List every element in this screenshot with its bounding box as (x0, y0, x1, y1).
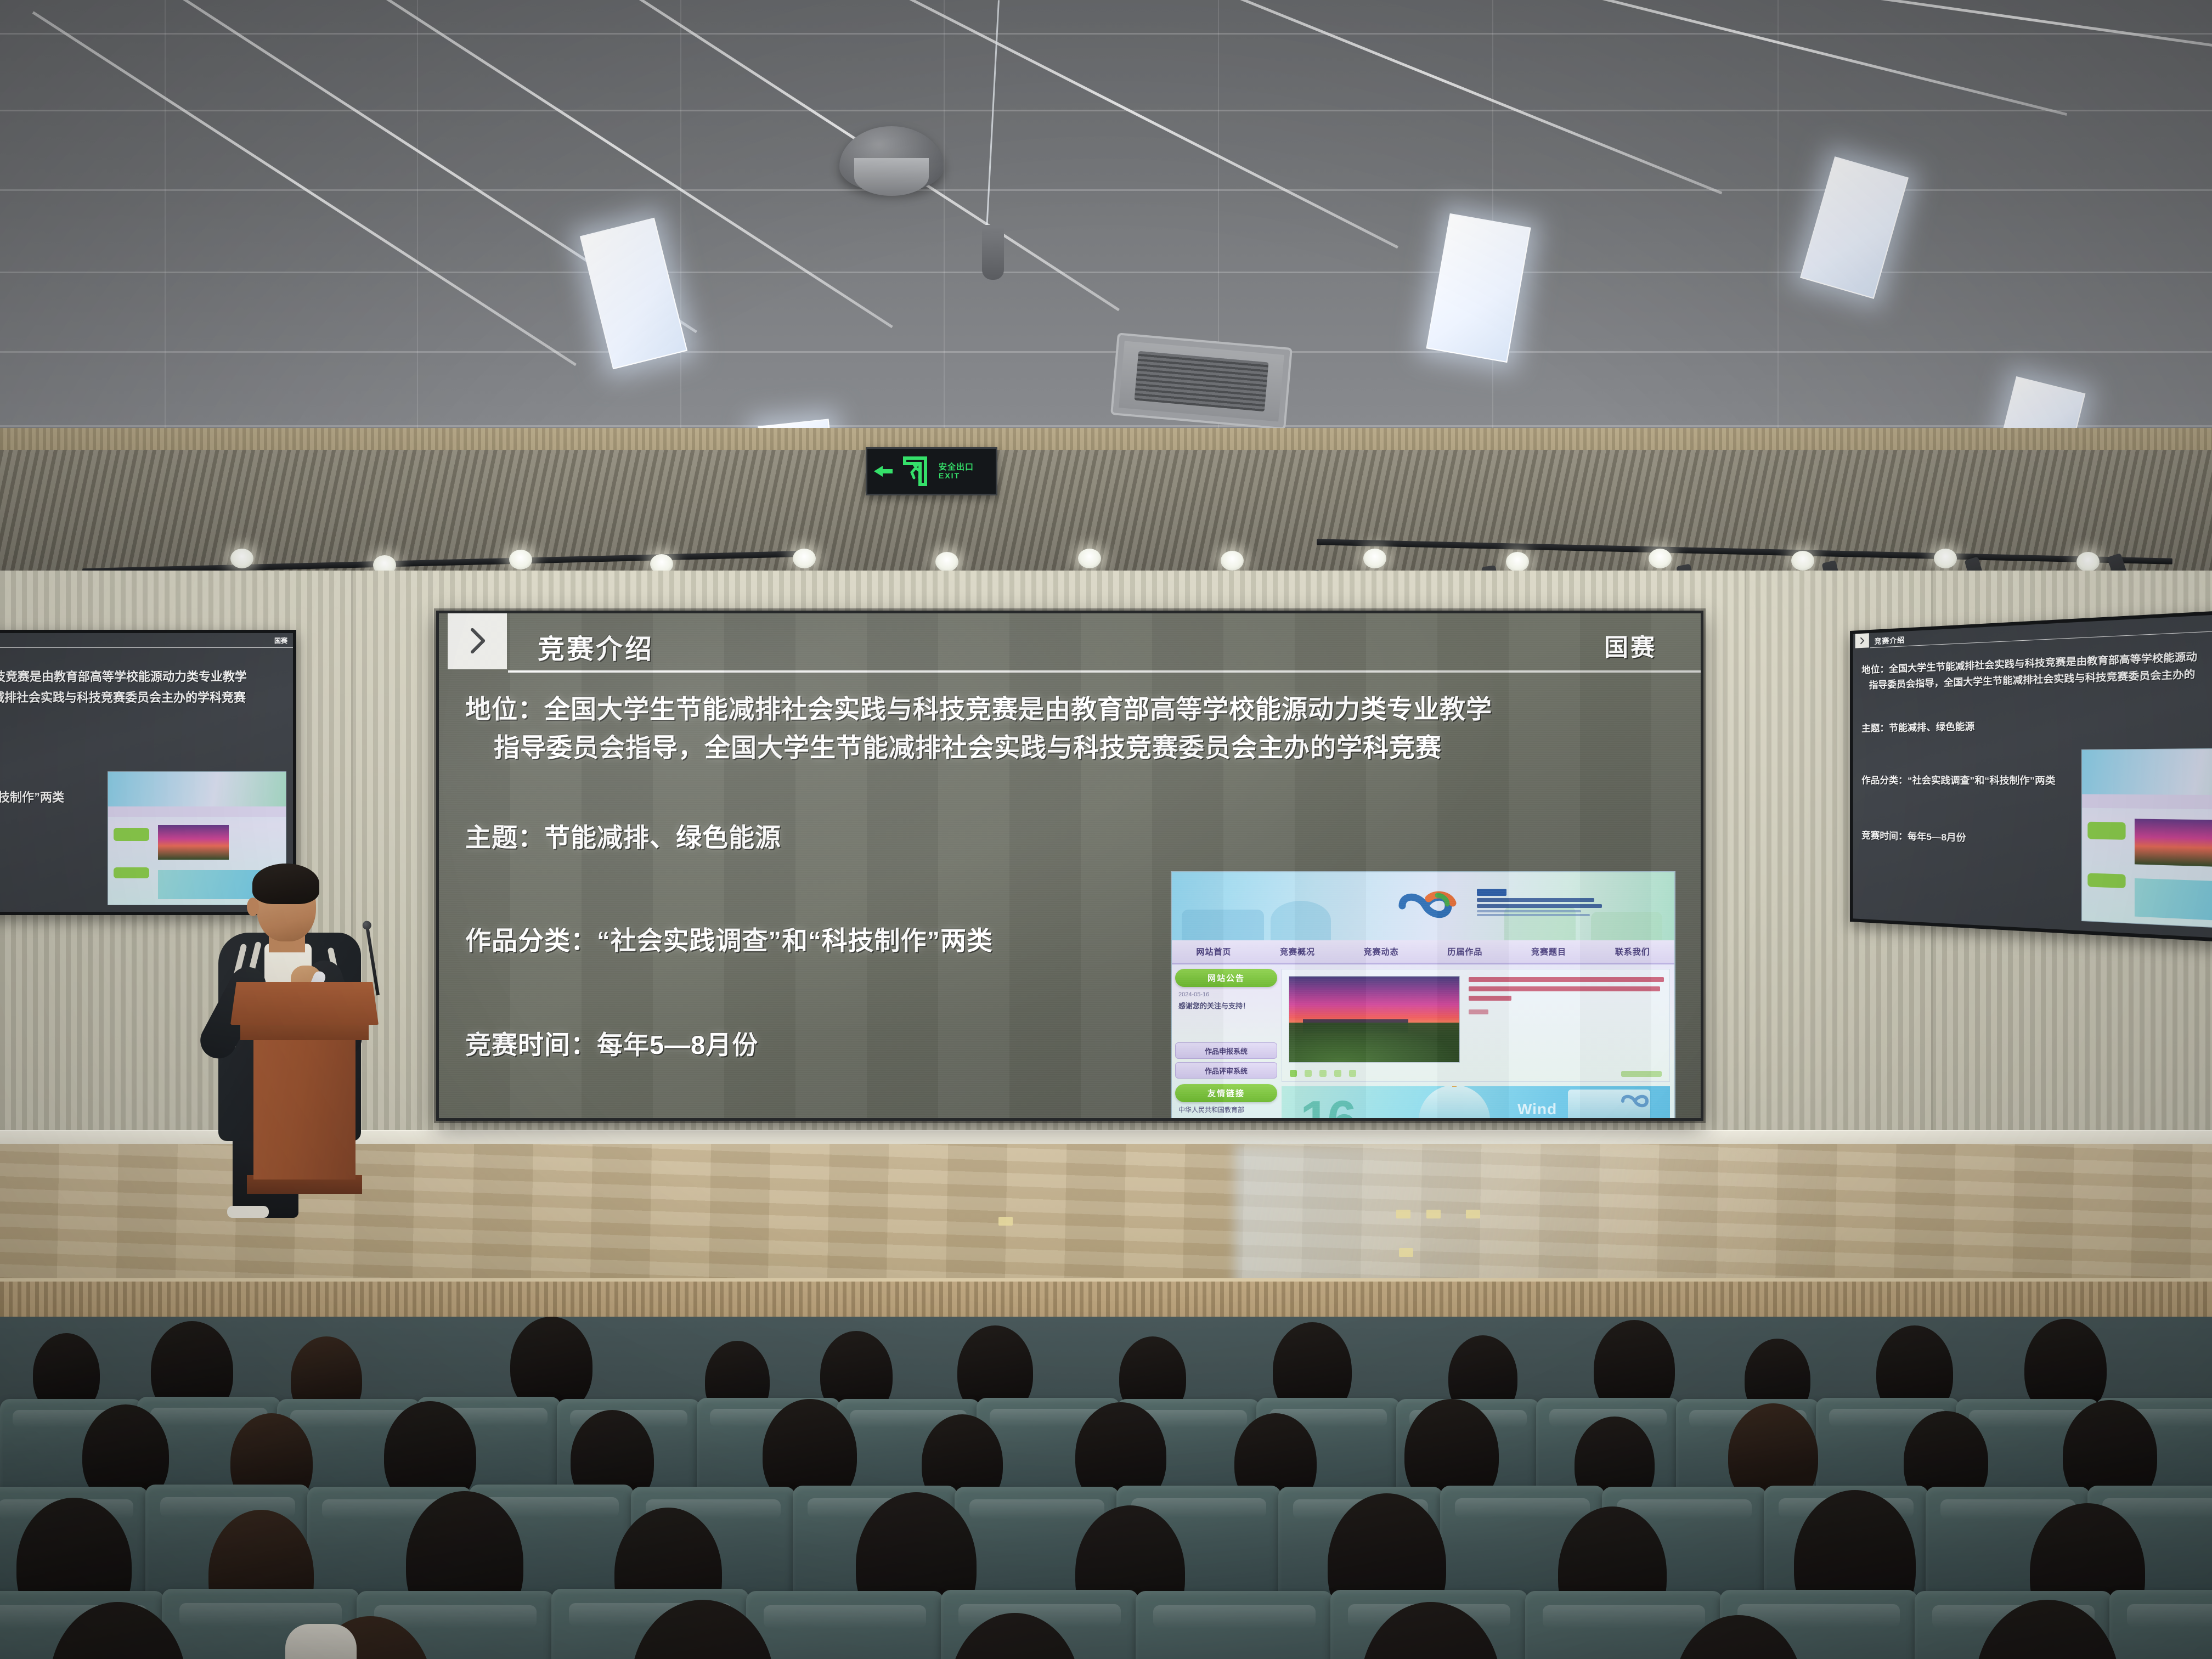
auditorium-seat[interactable] (746, 1591, 944, 1659)
ceiling (0, 0, 2212, 494)
site-logo-text (1477, 889, 1614, 918)
site-news-text (1469, 977, 1664, 1014)
ceiling-panel-light (580, 218, 687, 369)
site-sidebar: 网站公告 2024-05-16 感谢您的关注与支持！ 作品申报系统 作品评审系统… (1175, 969, 1277, 1121)
slide-line-theme: 主题：节能减排、绿色能源 (465, 816, 781, 854)
chevron-right-icon (448, 612, 507, 669)
site-nav-item[interactable]: 网站首页 (1172, 946, 1256, 957)
site-notice-date: 2024-05-16 (1178, 991, 1277, 998)
site-notice-text: 感谢您的关注与支持！ (1178, 1000, 1277, 1011)
pendant-speaker (982, 225, 1004, 280)
slide-badge: 国赛 (1604, 628, 1657, 663)
site-hero-banner: 16 Wind Go to Settings to activate (1282, 1086, 1670, 1121)
exit-arrow-icon (873, 460, 897, 482)
ceiling-panel-light (1426, 213, 1531, 363)
site-notice-header: 网站公告 (1175, 969, 1277, 987)
site-links-header: 友情链接 (1175, 1084, 1277, 1102)
site-friend-link[interactable]: 中华人民共和国教育部 (1178, 1105, 1277, 1114)
exit-running-person-icon (901, 456, 934, 487)
ceiling-panel-light (1800, 156, 1909, 299)
slide-title: 竞赛介绍 (538, 628, 654, 667)
ceiling-dome-camera-icon (839, 126, 944, 192)
side-monitor-right: 竞赛介绍 地位：全国大学生节能减排社会实践与科技竞赛是由教育部高等学校能源动 指… (1850, 608, 2212, 945)
site-banner (1172, 872, 1674, 940)
site-nav: 网站首页 竞赛概况 竞赛动态 历届作品 竞赛题目 联系我们 (1172, 940, 1674, 964)
exit-sign: 安全出口 EXIT (866, 447, 997, 495)
site-watermark: Wind Go to Settings to activate (1517, 1101, 1611, 1121)
site-submit-system-button[interactable]: 作品申报系统 (1175, 1042, 1277, 1059)
monitor-right-embedded-site (2081, 748, 2212, 931)
exit-sign-text-cn: 安全出口 (939, 463, 974, 472)
site-nav-item[interactable]: 历届作品 (1423, 946, 1507, 957)
exit-sign-text-en: EXIT (939, 472, 974, 480)
slide-header-rule (508, 670, 1701, 673)
site-news-photo (1289, 976, 1460, 1063)
slide-body: 地位：全国大学生节能减排社会实践与科技竞赛是由教育部高等学校能源动力类专业教学 … (439, 678, 1701, 1121)
site-news-card (1282, 969, 1670, 1082)
slide-line-2: 指导委员会指导，全国大学生节能减排社会实践与科技竞赛委员会主办的学科竞赛 (494, 726, 1442, 764)
site-more-button[interactable] (1621, 1071, 1662, 1077)
site-review-system-button[interactable]: 作品评审系统 (1175, 1062, 1277, 1079)
monitor-right-chevron-icon (1855, 633, 1869, 648)
slide-line-1: 地位：全国大学生节能减排社会实践与科技竞赛是由教育部高等学校能源动力类专业教学 (465, 688, 1492, 726)
auditorium-scene: 安全出口 EXIT 国赛 社会实践与 (0, 0, 2212, 1659)
site-nav-item[interactable]: 联系我们 (1590, 946, 1674, 957)
site-carousel-dots[interactable] (1290, 1070, 1356, 1077)
audience-shoulder (285, 1624, 357, 1659)
slide-line-time: 竞赛时间：每年5—8月份 (465, 1024, 758, 1062)
site-nav-item[interactable]: 竞赛动态 (1339, 946, 1423, 957)
slide-header: 竞赛介绍 国赛 (439, 613, 1701, 672)
slide-line-categories: 作品分类：“社会实践调查”和“科技制作”两类 (465, 919, 993, 957)
air-conditioning-vent (1110, 332, 1293, 430)
site-nav-item[interactable]: 竞赛概况 (1256, 946, 1340, 957)
site-news-more-link[interactable] (1469, 1009, 1488, 1014)
site-hero-infinity-icon (1620, 1092, 1658, 1110)
site-nav-item[interactable]: 竞赛题目 (1507, 946, 1591, 957)
auditorium-seat[interactable] (2109, 1590, 2212, 1659)
site-hero-number: 16 (1300, 1090, 1355, 1121)
embedded-website-screenshot: 网站首页 竞赛概况 竞赛动态 历届作品 竞赛题目 联系我们 网站公告 2024-… (1171, 871, 1675, 1121)
site-friend-link[interactable]: 中华人民共和国科学技术部 (1178, 1117, 1277, 1121)
podium (230, 982, 379, 1196)
auditorium-seat[interactable] (1136, 1591, 1333, 1659)
infinity-logo-icon (1397, 888, 1469, 924)
monitor-left-badge: 国赛 (274, 636, 287, 645)
audience-seating (0, 1317, 2212, 1659)
monitor-right-title: 竞赛介绍 (1875, 634, 1905, 646)
main-presentation-screen: 竞赛介绍 国赛 地位：全国大学生节能减排社会实践与科技竞赛是由教育部高等学校能源… (436, 611, 1703, 1121)
